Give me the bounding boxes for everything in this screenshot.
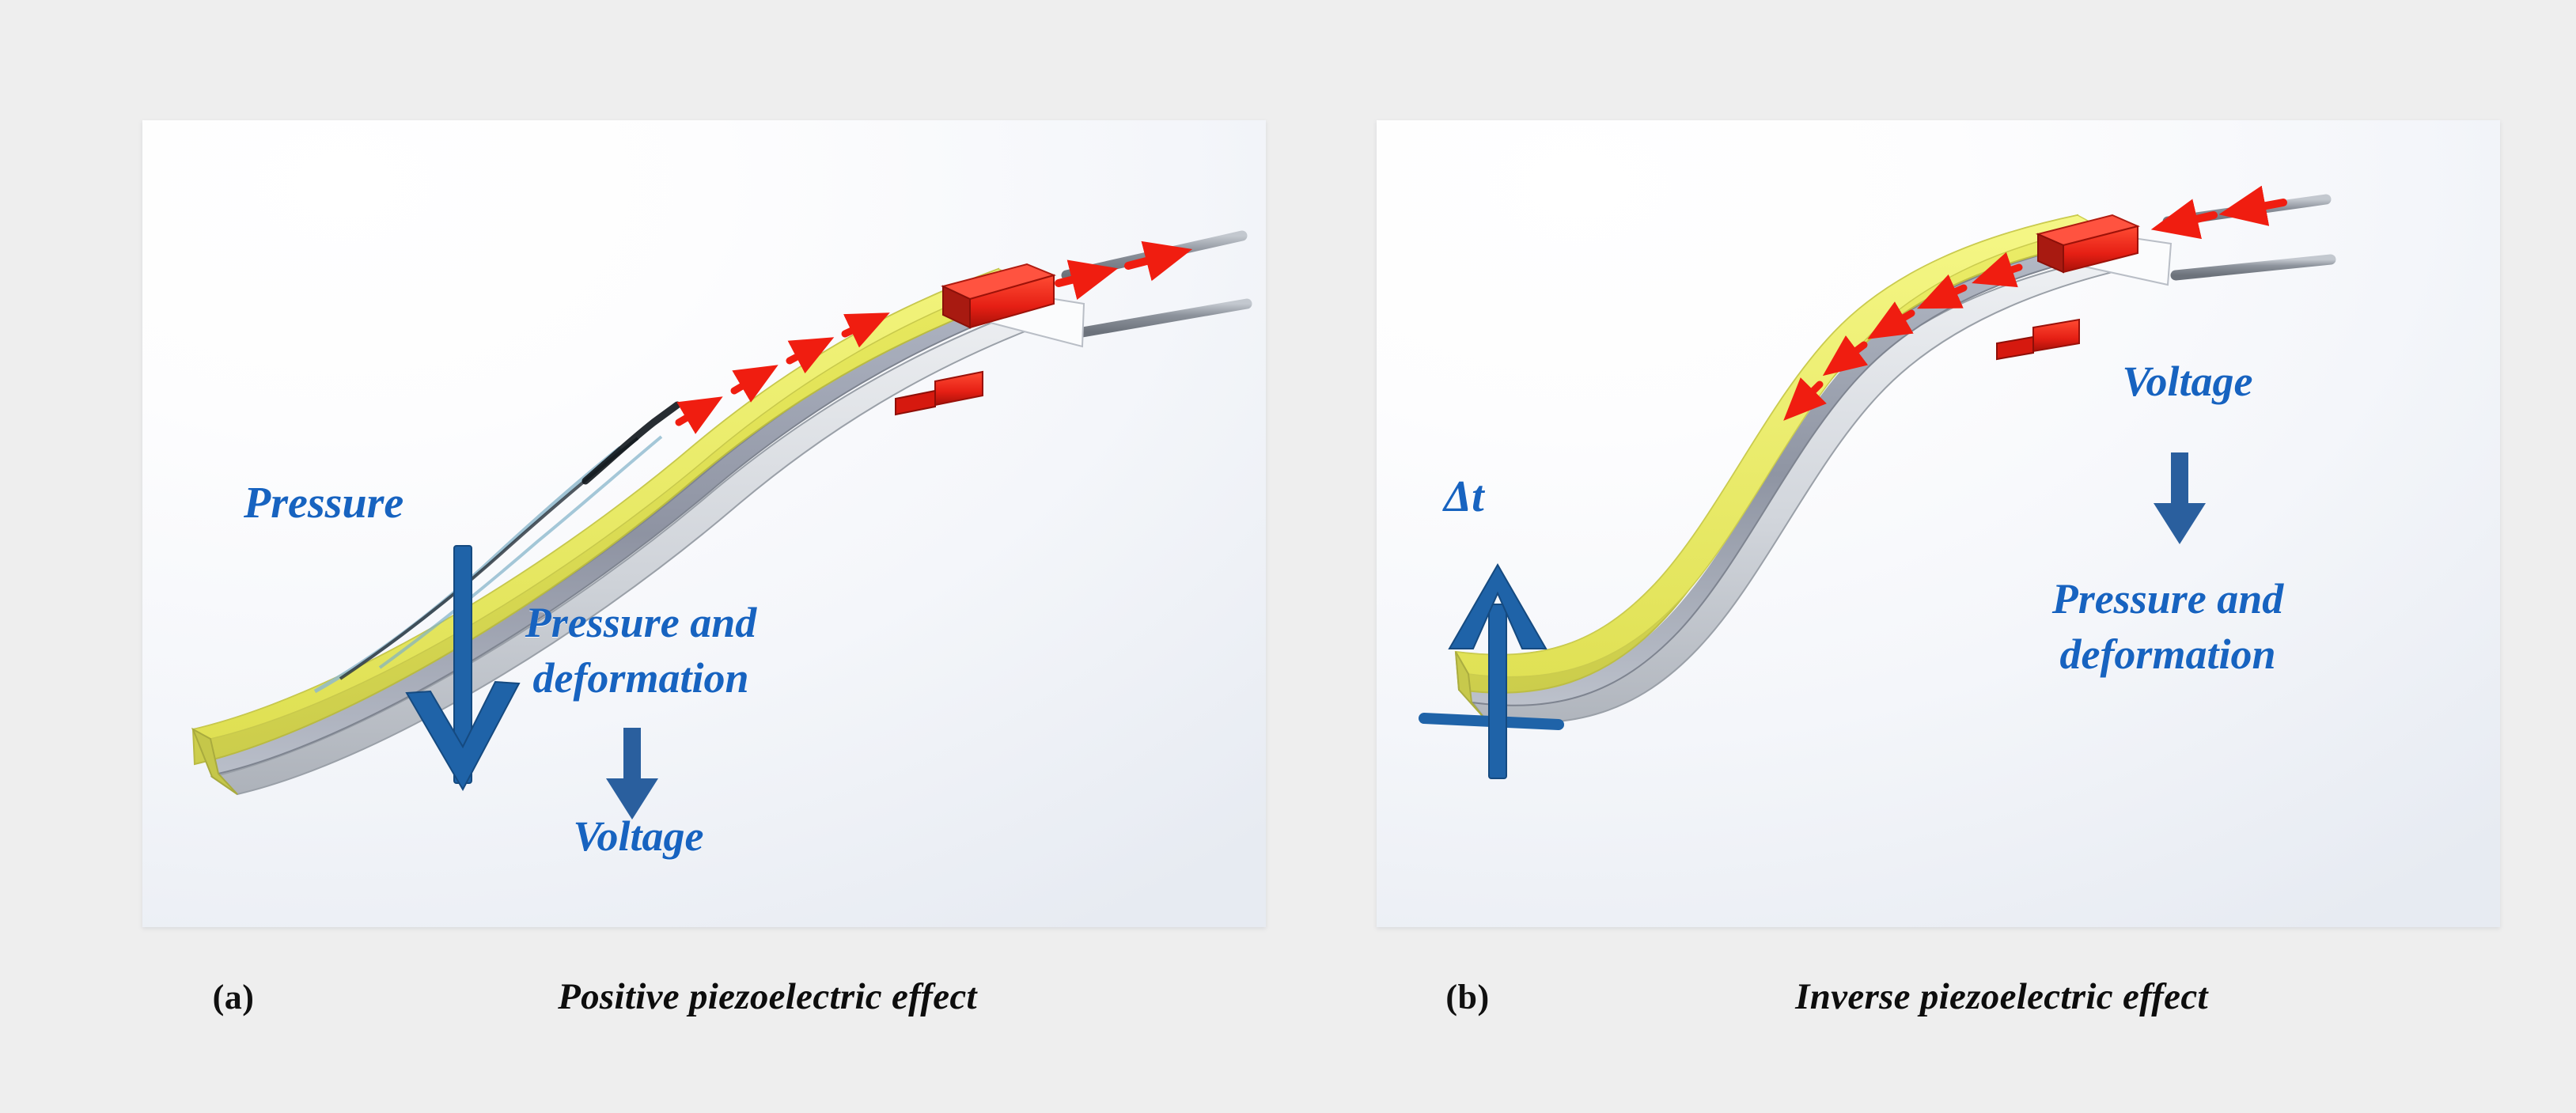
label-pressure-and-deformation-result: Pressure and deformation xyxy=(1923,571,2413,682)
caption-tag-b: (b) xyxy=(1377,977,1559,1017)
lead-wire-lower-b xyxy=(2176,259,2331,275)
caption-text-b: Inverse piezoelectric effect xyxy=(1559,975,2500,1018)
caption-b: (b) Inverse piezoelectric effect xyxy=(1377,961,2500,1032)
label-voltage-output: Voltage xyxy=(453,808,824,864)
label-pressure-and-deformation: Pressure and deformation xyxy=(419,595,862,706)
label-voltage-cause: Voltage xyxy=(2002,354,2373,409)
lead-wire-lower xyxy=(1082,304,1247,332)
current-arrow-1 xyxy=(679,407,706,422)
flow-arrow-a xyxy=(606,728,658,820)
panel-b-canvas: Δt Voltage Pressure and deformation xyxy=(1377,120,2500,927)
panel-a: Pressure Pressure and deformation Voltag… xyxy=(142,120,1266,927)
current-arrow-2 xyxy=(734,375,761,391)
caption-text-a: Positive piezoelectric effect xyxy=(324,975,1266,1018)
flow-arrow-b xyxy=(2154,452,2206,544)
caption-tag-a: (a) xyxy=(142,977,324,1017)
inverse-piezo-illustration xyxy=(1377,120,2500,927)
figure-root: Pressure Pressure and deformation Voltag… xyxy=(0,0,2576,1113)
label-delta-t-input: Δt xyxy=(1444,468,1484,526)
panel-b: Δt Voltage Pressure and deformation xyxy=(1377,120,2500,927)
panel-a-canvas: Pressure Pressure and deformation Voltag… xyxy=(142,120,1266,927)
caption-a: (a) Positive piezoelectric effect xyxy=(142,961,1266,1032)
label-pressure-input: Pressure xyxy=(244,475,403,532)
